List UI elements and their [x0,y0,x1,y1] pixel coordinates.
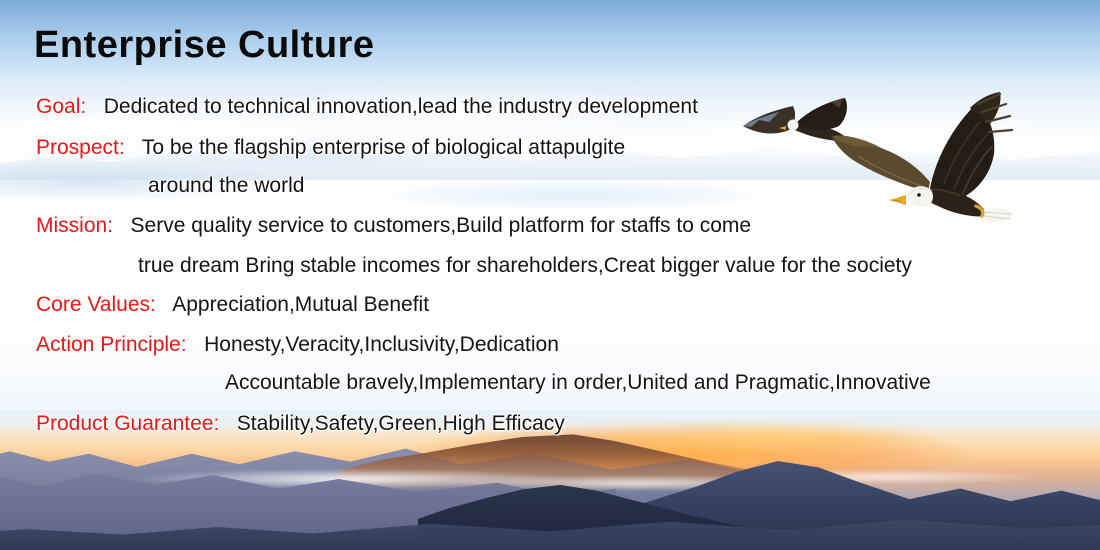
list-item-action-principle: Action Principle: Honesty,Veracity,Inclu… [36,333,559,357]
entry-value-mission-cont: true dream Bring stable incomes for shar… [138,254,912,277]
list-item-product-guarantee: Product Guarantee: Stability,Safety,Gree… [36,412,565,436]
list-item-prospect: Prospect: To be the flagship enterprise … [36,136,625,160]
list-item-mission: Mission: Serve quality service to custom… [36,214,751,238]
entry-value-mission: Serve quality service to customers,Build… [131,214,752,237]
entry-label-core-values: Core Values: [36,293,168,316]
list-item-mission-cont: true dream Bring stable incomes for shar… [138,254,912,278]
page-title: Enterprise Culture [34,24,375,67]
entry-value-action-principle-cont: Accountable bravely,Implementary in orde… [225,371,931,394]
enterprise-culture-slide: Enterprise Culture Goal: Dedicated to te… [0,0,1100,550]
eagle-right [810,92,1015,240]
list-item-core-values: Core Values: Appreciation,Mutual Benefit [36,293,429,317]
entry-label-product-guarantee: Product Guarantee: [36,412,231,435]
list-item-prospect-cont: around the world [148,174,304,198]
entry-label-prospect: Prospect: [36,136,136,159]
entry-label-mission: Mission: [36,214,125,237]
entry-value-goal: Dedicated to technical innovation,lead t… [104,95,698,118]
entry-value-product-guarantee: Stability,Safety,Green,High Efficacy [237,412,565,435]
entry-value-action-principle: Honesty,Veracity,Inclusivity,Dedication [204,333,559,356]
entry-value-prospect-cont: around the world [148,174,304,197]
entry-value-prospect: To be the flagship enterprise of biologi… [142,136,625,159]
entry-label-action-principle: Action Principle: [36,333,198,356]
entry-value-core-values: Appreciation,Mutual Benefit [172,293,429,316]
entry-label-goal: Goal: [36,95,98,118]
list-item-action-principle-cont: Accountable bravely,Implementary in orde… [225,371,931,395]
list-item-goal: Goal: Dedicated to technical innovation,… [36,95,698,119]
